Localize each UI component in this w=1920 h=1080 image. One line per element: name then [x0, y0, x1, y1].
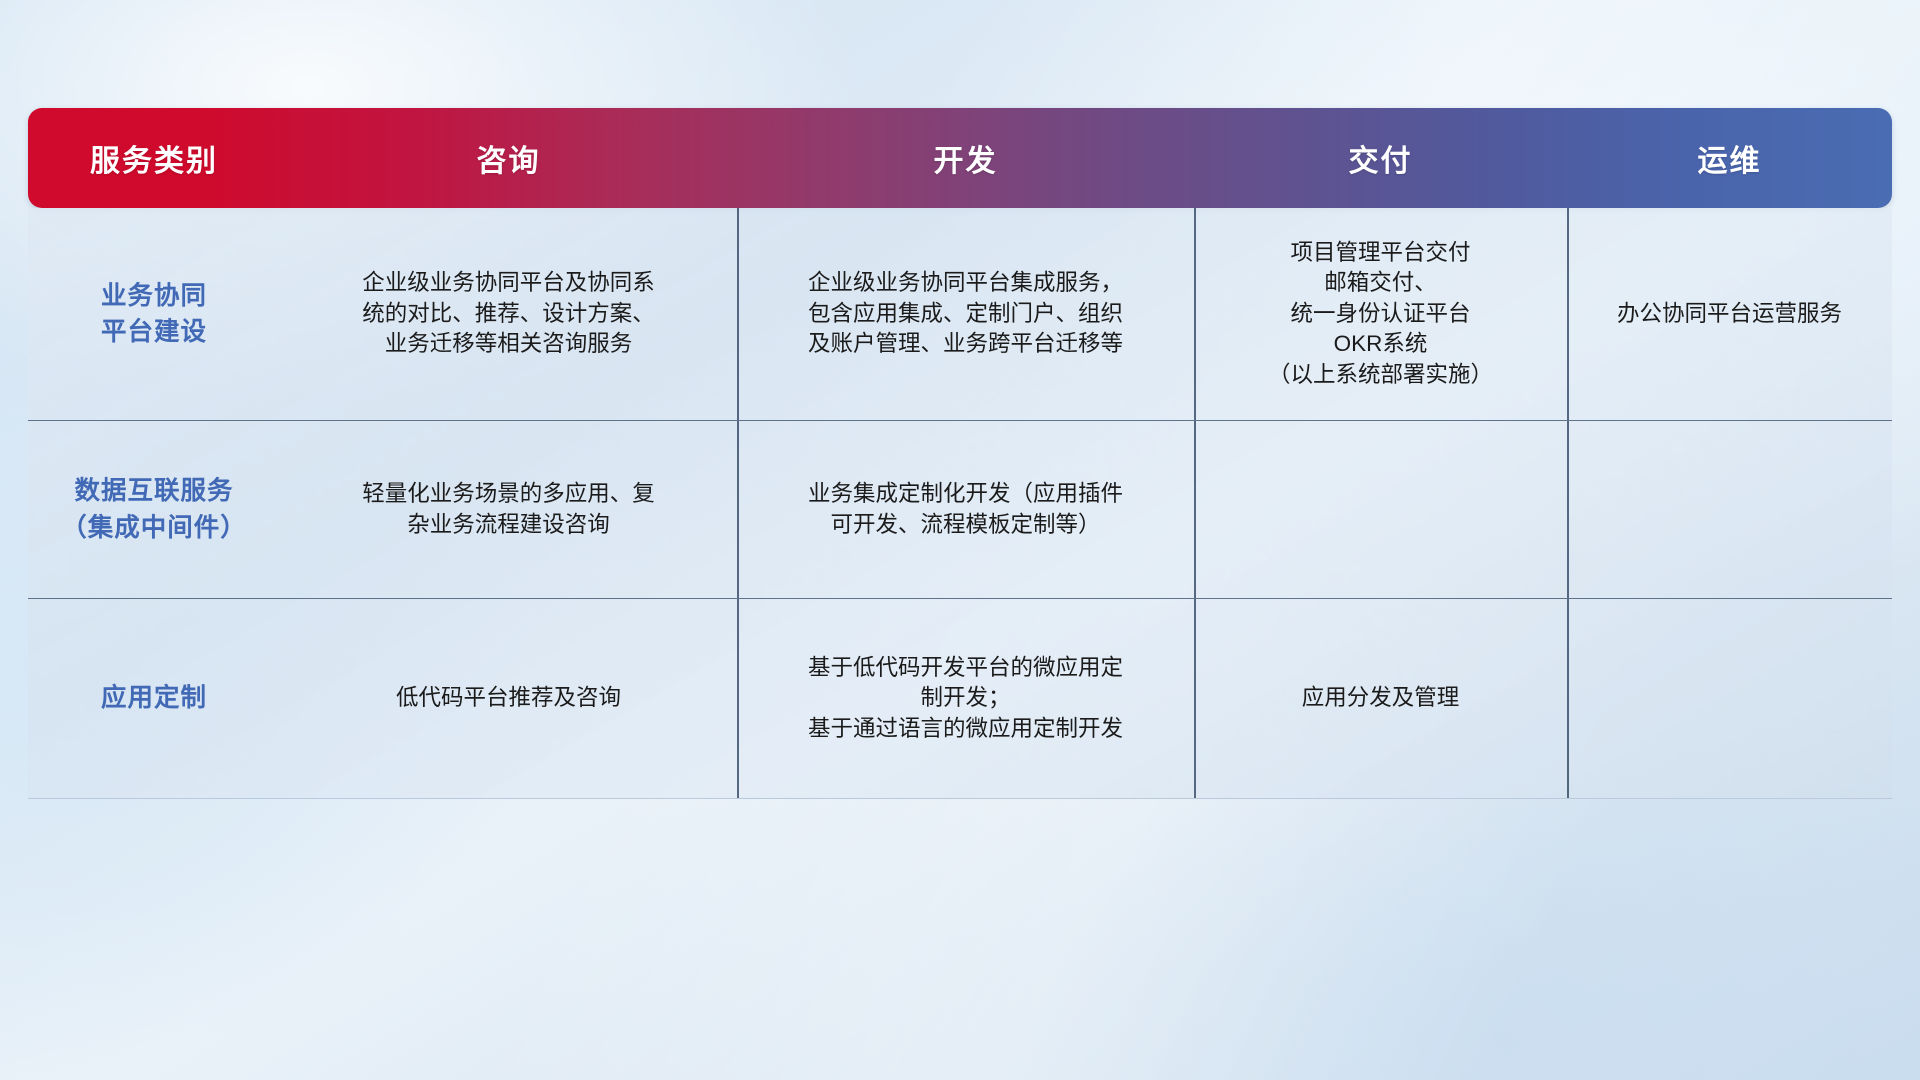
- column-divider: [1567, 208, 1569, 420]
- column-divider: [737, 208, 739, 420]
- service-category-table: 服务类别 咨询 开发 交付 运维 业务协同 平台建设 企业级业务协同平台及协同系…: [28, 108, 1892, 799]
- column-divider: [1194, 421, 1196, 598]
- cell-development: 企业级业务协同平台集成服务， 包含应用集成、定制门户、组织 及账户管理、业务跨平…: [737, 208, 1194, 420]
- column-divider: [1194, 208, 1196, 420]
- column-divider: [1567, 599, 1569, 798]
- cell-consulting: 轻量化业务场景的多应用、复 杂业务流程建设咨询: [280, 421, 737, 598]
- slide-canvas: 服务类别 咨询 开发 交付 运维 业务协同 平台建设 企业级业务协同平台及协同系…: [0, 0, 1920, 1080]
- table-row: 业务协同 平台建设 企业级业务协同平台及协同系 统的对比、推荐、设计方案、 业务…: [28, 208, 1892, 420]
- column-header-category: 服务类别: [28, 108, 280, 208]
- cell-consulting: 企业级业务协同平台及协同系 统的对比、推荐、设计方案、 业务迁移等相关咨询服务: [280, 208, 737, 420]
- column-divider: [1567, 421, 1569, 598]
- column-header-consulting: 咨询: [280, 108, 737, 208]
- table-body: 业务协同 平台建设 企业级业务协同平台及协同系 统的对比、推荐、设计方案、 业务…: [28, 208, 1892, 799]
- table-header-row: 服务类别 咨询 开发 交付 运维: [28, 108, 1892, 208]
- column-divider: [737, 421, 739, 598]
- cell-delivery: 应用分发及管理: [1194, 599, 1567, 798]
- cell-consulting: 低代码平台推荐及咨询: [280, 599, 737, 798]
- table-row: 应用定制 低代码平台推荐及咨询 基于低代码开发平台的微应用定 制开发； 基于通过…: [28, 598, 1892, 798]
- cell-delivery: [1194, 421, 1567, 598]
- column-header-delivery: 交付: [1194, 108, 1567, 208]
- column-divider: [1194, 599, 1196, 798]
- cell-delivery: 项目管理平台交付 邮箱交付、 统一身份认证平台 OKR系统 （以上系统部署实施）: [1194, 208, 1567, 420]
- cell-category: 业务协同 平台建设: [28, 208, 280, 420]
- column-header-development: 开发: [737, 108, 1194, 208]
- cell-category: 数据互联服务 （集成中间件）: [28, 421, 280, 598]
- column-divider: [737, 599, 739, 798]
- table-row: 数据互联服务 （集成中间件） 轻量化业务场景的多应用、复 杂业务流程建设咨询 业…: [28, 420, 1892, 598]
- cell-operations: 办公协同平台运营服务: [1567, 208, 1892, 420]
- cell-operations: [1567, 421, 1892, 598]
- cell-category: 应用定制: [28, 599, 280, 798]
- cell-operations: [1567, 599, 1892, 798]
- column-header-operations: 运维: [1567, 108, 1892, 208]
- cell-development: 业务集成定制化开发（应用插件 可开发、流程模板定制等）: [737, 421, 1194, 598]
- cell-development: 基于低代码开发平台的微应用定 制开发； 基于通过语言的微应用定制开发: [737, 599, 1194, 798]
